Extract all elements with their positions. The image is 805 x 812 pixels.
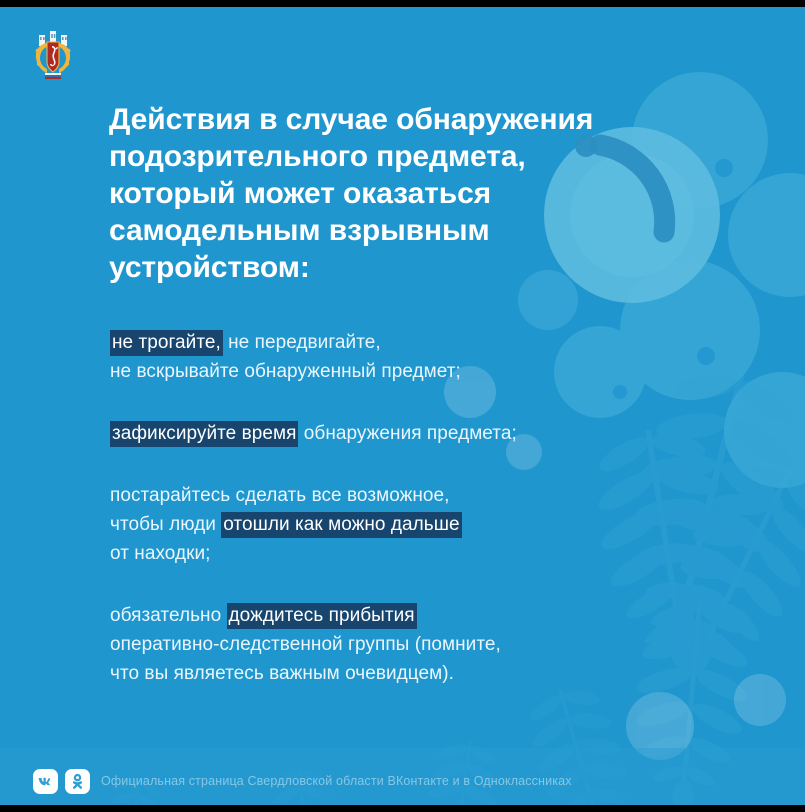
footer-note: Официальная страница Свердловской област… — [101, 773, 572, 789]
item-4-line-1-pre: обязательно — [110, 605, 227, 626]
item-3-line-3: от находки; — [110, 543, 210, 564]
list-item: не трогайте, не передвигайте, не вскрыва… — [110, 328, 730, 386]
letterbox-top — [0, 0, 805, 7]
item-1-highlight: не трогайте, — [110, 330, 223, 356]
title-line-1: Действия в случае обнаружения — [109, 103, 593, 136]
odnoklassniki-icon — [70, 773, 85, 790]
title-line-2: подозрительного предмета, — [109, 140, 526, 173]
item-1-rest: не передвигайте, — [223, 332, 381, 353]
item-2-rest: обнаружения предмета; — [298, 423, 516, 444]
instruction-list: не трогайте, не передвигайте, не вскрыва… — [110, 328, 730, 688]
list-item: зафиксируйте время обнаружения предмета; — [110, 419, 730, 448]
title-line-3: который может оказаться — [109, 177, 491, 210]
social-links — [33, 769, 90, 794]
odnoklassniki-link[interactable] — [65, 769, 90, 794]
item-3-line-1: постарайтесь сделать все возможное, — [110, 485, 449, 506]
sverdlovsk-coat-of-arms-icon — [33, 29, 73, 79]
item-4-line-2: оперативно-следственной группы (помните, — [110, 634, 501, 655]
item-3-highlight: отошли как можно дальше — [221, 512, 461, 538]
item-2-highlight: зафиксируйте время — [110, 421, 298, 447]
letterbox-bottom — [0, 805, 805, 812]
list-item: постарайтесь сделать все возможное, чтоб… — [110, 481, 730, 568]
list-item: обязательно дождитесь прибытия оперативн… — [110, 601, 730, 688]
item-4-highlight: дождитесь прибытия — [227, 603, 417, 629]
title-line-5: устройством: — [109, 251, 310, 284]
poster-root: Действия в случае обнаружения подозрител… — [0, 0, 805, 812]
page-title: Действия в случае обнаружения подозрител… — [109, 101, 709, 286]
item-3-line-2-pre: чтобы люди — [110, 514, 221, 535]
vk-link[interactable] — [33, 769, 58, 794]
vk-icon — [37, 773, 54, 790]
item-4-line-3: что вы являетесь важным очевидцем). — [110, 663, 454, 684]
item-1-line-2: не вскрывайте обнаруженный предмет; — [110, 361, 461, 382]
title-line-4: самодельным взрывным — [109, 214, 490, 247]
footer: Официальная страница Свердловской област… — [0, 757, 805, 805]
